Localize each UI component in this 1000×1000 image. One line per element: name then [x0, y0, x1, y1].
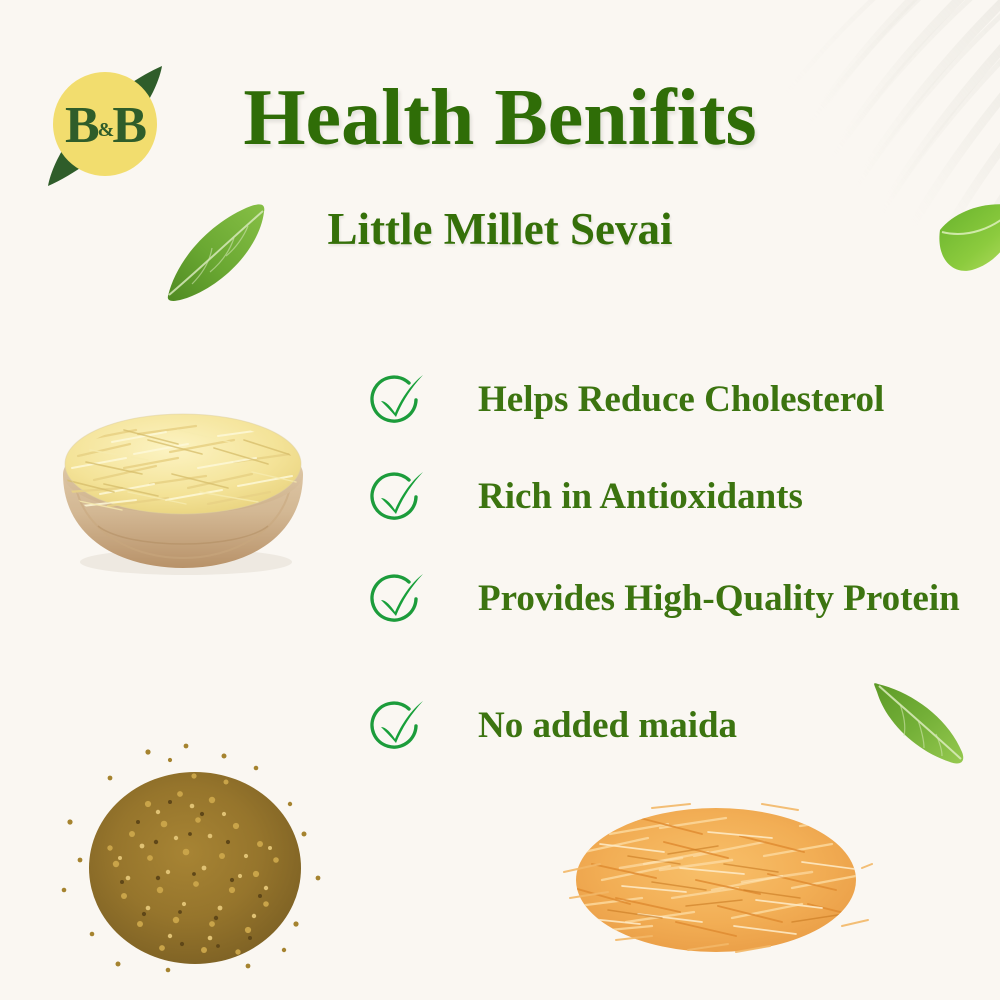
wooden-bowl-of-sevai-noodles — [38, 396, 328, 581]
benefit-label: No added maida — [478, 694, 737, 751]
page-subtitle: Little Millet Sevai — [0, 207, 1000, 252]
benefit-item: Rich in Antioxidants — [363, 465, 963, 529]
benefits-list: Helps Reduce Cholesterol Rich in Antioxi… — [363, 368, 963, 758]
page-title: Health Benifits — [0, 78, 1000, 158]
check-circle-icon — [363, 467, 425, 529]
check-circle-icon — [363, 696, 425, 758]
benefit-label: Provides High-Quality Protein — [478, 567, 960, 624]
check-circle-icon — [363, 370, 425, 432]
benefit-label: Rich in Antioxidants — [478, 465, 803, 522]
pile-of-roasted-sevai-vermicelli — [556, 794, 876, 964]
benefit-item: No added maida — [363, 694, 963, 758]
health-benefits-poster: B&B Health Benifits Little Millet Sevai — [0, 0, 1000, 1000]
check-circle-icon — [363, 569, 425, 631]
benefit-item: Provides High-Quality Protein — [363, 567, 963, 631]
benefit-item: Helps Reduce Cholesterol — [363, 368, 963, 432]
benefit-label: Helps Reduce Cholesterol — [478, 368, 884, 425]
pile-of-little-millet-grains — [52, 738, 332, 976]
